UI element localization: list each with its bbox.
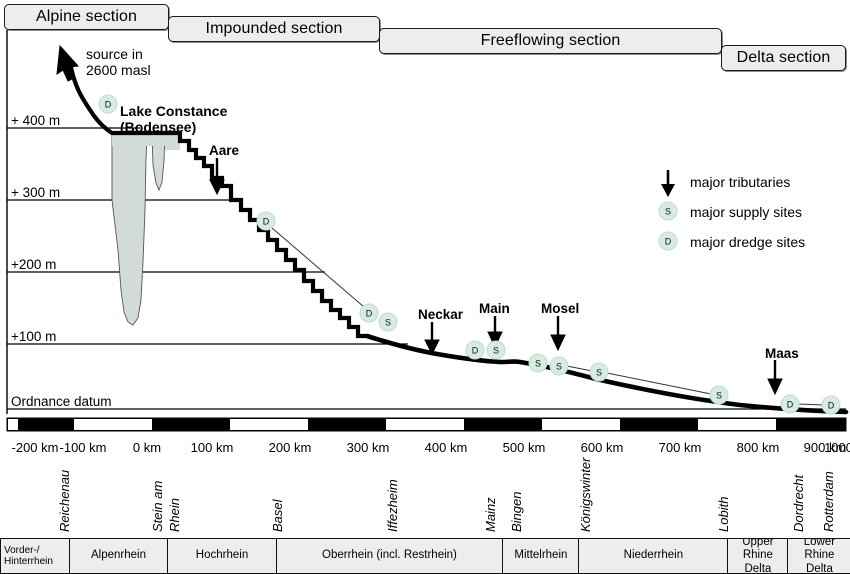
city-label-basel: Basel — [270, 499, 285, 532]
y-tick-label-300: + 300 m — [11, 185, 60, 200]
source-line-2: 2600 masl — [86, 63, 151, 79]
reach-label-line2: Rhine Delta — [790, 549, 848, 574]
x-tick-label-400: 400 km — [411, 440, 481, 455]
x-tick-label-700: 700 km — [645, 440, 715, 455]
lake-constance-basin — [112, 133, 147, 325]
scale-bar — [7, 418, 846, 431]
reach-cell-upper-rhine-delta[interactable]: Upper Rhine Delta — [727, 538, 789, 574]
reach-table: Vorder-/ Hinterrhein Alpenrhein Hochrhei… — [0, 538, 850, 574]
reach-cell-alpenrhein[interactable]: Alpenrhein — [69, 538, 169, 574]
x-tick-label-200: 200 km — [255, 440, 325, 455]
reach-cell-vorder-hinterrhein[interactable]: Vorder-/ Hinterrhein — [0, 538, 70, 574]
leader-line-4 — [798, 404, 824, 405]
lake-line-1: Lake Constance — [120, 104, 227, 120]
dredge-site-icon: D — [257, 212, 275, 230]
reach-cell-mittelrhein[interactable]: Mittelrhein — [502, 538, 580, 574]
supply-site-icon: S — [590, 363, 608, 381]
section-tab-freeflowing[interactable]: Freeflowing section — [379, 28, 722, 54]
leader-line-1 — [272, 228, 364, 307]
section-tab-label: Freeflowing section — [481, 32, 621, 50]
city-label-stein-rhein: Rhein — [167, 498, 182, 532]
city-label-rotterdam: Rotterdam — [821, 471, 836, 532]
y-tick-label-datum: Ordnance datum — [11, 394, 112, 409]
svg-text:S: S — [665, 207, 671, 217]
city-label-bingen: Bingen — [509, 492, 524, 532]
reach-label-line2: Rhine Delta — [730, 549, 786, 574]
legend-label-tributaries: major tributaries — [690, 174, 790, 190]
lake-constance-right-shelf — [165, 134, 180, 150]
section-tab-delta[interactable]: Delta section — [721, 45, 846, 71]
arrow-neckar-icon — [425, 322, 439, 354]
x-tick-label--100: -100 km — [48, 440, 118, 455]
tributary-label-maas: Maas — [765, 346, 799, 361]
supply-site-icon: S — [487, 341, 505, 359]
dredge-site-icon: D — [360, 304, 378, 322]
svg-text:D: D — [366, 309, 373, 319]
dredge-site-icon: D — [822, 396, 840, 414]
svg-text:S: S — [385, 318, 391, 328]
x-tick-label-1000: 1000 km — [804, 440, 850, 455]
x-tick-label-600: 600 km — [567, 440, 637, 455]
tributary-label-neckar: Neckar — [418, 307, 463, 322]
reach-label: Hochrhein — [196, 549, 248, 562]
reach-label-line2: Hinterrhein — [4, 556, 53, 568]
source-line-1: source in — [86, 47, 151, 63]
legend-symbols: S D — [659, 170, 677, 250]
x-tick-label-300: 300 km — [333, 440, 403, 455]
reach-label-line1: Vorder-/ — [4, 545, 53, 557]
svg-text:S: S — [556, 362, 562, 372]
city-label-stein-am: Stein am — [150, 481, 165, 532]
y-tick-label-200: +200 m — [11, 257, 56, 272]
svg-text:D: D — [472, 346, 479, 356]
reach-label: Mittelrhein — [514, 549, 567, 562]
lake-constance-label: Lake Constance (Bodensee) — [120, 104, 227, 135]
section-tab-label: Alpine section — [36, 8, 137, 26]
tributary-label-aare: Aare — [209, 143, 239, 158]
tributary-label-mosel: Mosel — [541, 301, 579, 316]
y-tick-label-100: +100 m — [11, 329, 56, 344]
supply-site-icon: S — [550, 357, 568, 375]
svg-text:S: S — [493, 346, 499, 356]
city-label-reichenau: Reichenau — [57, 470, 72, 532]
figure-root: D D D S D S S S S S D D S D — [0, 0, 850, 574]
reach-label: Oberrhein (incl. Restrhein) — [322, 549, 457, 562]
source-annotation: source in 2600 masl — [86, 47, 151, 78]
legend-label-supply-sites: major supply sites — [690, 204, 802, 220]
legend-label-dredge-sites: major dredge sites — [690, 234, 805, 250]
reach-cell-lower-rhine-delta[interactable]: Lower Rhine Delta — [787, 538, 850, 574]
dredge-site-icon: D — [466, 341, 484, 359]
supply-site-icon: S — [710, 386, 728, 404]
leader-lines — [272, 228, 824, 405]
profile-impounded-steps — [112, 133, 367, 336]
svg-text:D: D — [787, 400, 794, 410]
city-label-mainz: Mainz — [483, 497, 498, 532]
svg-text:S: S — [535, 359, 541, 369]
city-label-lobith: Lobith — [716, 497, 731, 532]
x-tick-label-800: 800 km — [723, 440, 793, 455]
city-label-dordrecht: Dordrecht — [791, 475, 806, 532]
svg-text:D: D — [665, 237, 672, 247]
section-tab-alpine[interactable]: Alpine section — [4, 4, 169, 30]
reach-label: Niederrhein — [624, 549, 683, 562]
y-tick-label-400: + 400 m — [11, 113, 60, 128]
reach-label-line1: Lower — [790, 538, 848, 549]
tributary-label-main: Main — [479, 301, 510, 316]
arrow-maas-icon — [768, 360, 782, 394]
arrow-mosel-icon — [551, 316, 565, 350]
x-tick-label-0: 0 km — [112, 440, 182, 455]
dredge-site-icon: D — [781, 395, 799, 413]
legend-supply-site-icon: S — [659, 202, 677, 220]
x-tick-label-100: 100 km — [177, 440, 247, 455]
svg-text:S: S — [596, 368, 602, 378]
svg-text:D: D — [263, 217, 270, 227]
svg-text:D: D — [828, 401, 835, 411]
city-label-iffezheim: Iffezheim — [385, 479, 400, 532]
legend-dredge-site-icon: D — [659, 232, 677, 250]
svg-text:D: D — [105, 100, 112, 110]
supply-site-icon: S — [529, 354, 547, 372]
reach-cell-oberrhein[interactable]: Oberrhein (incl. Restrhein) — [276, 538, 504, 574]
svg-text:S: S — [716, 391, 722, 401]
legend-down-arrow-icon — [661, 170, 675, 197]
reach-label-line1: Upper — [730, 538, 786, 549]
x-tick-label-500: 500 km — [489, 440, 559, 455]
section-tab-impounded[interactable]: Impounded section — [168, 16, 380, 42]
lake-line-2: (Bodensee) — [120, 120, 227, 136]
dredge-site-icon: D — [99, 95, 117, 113]
supply-site-icon: S — [379, 313, 397, 331]
section-tab-label: Delta section — [737, 49, 831, 67]
section-tab-label: Impounded section — [206, 20, 343, 38]
reach-cell-niederrhein[interactable]: Niederrhein — [578, 538, 728, 574]
reach-cell-hochrhein[interactable]: Hochrhein — [167, 538, 277, 574]
profile-plot: D D D S D S S S S S D D S D — [0, 0, 850, 574]
city-label-koenigswinter: Königswinter — [578, 458, 593, 532]
reach-label: Alpenrhein — [91, 549, 146, 562]
